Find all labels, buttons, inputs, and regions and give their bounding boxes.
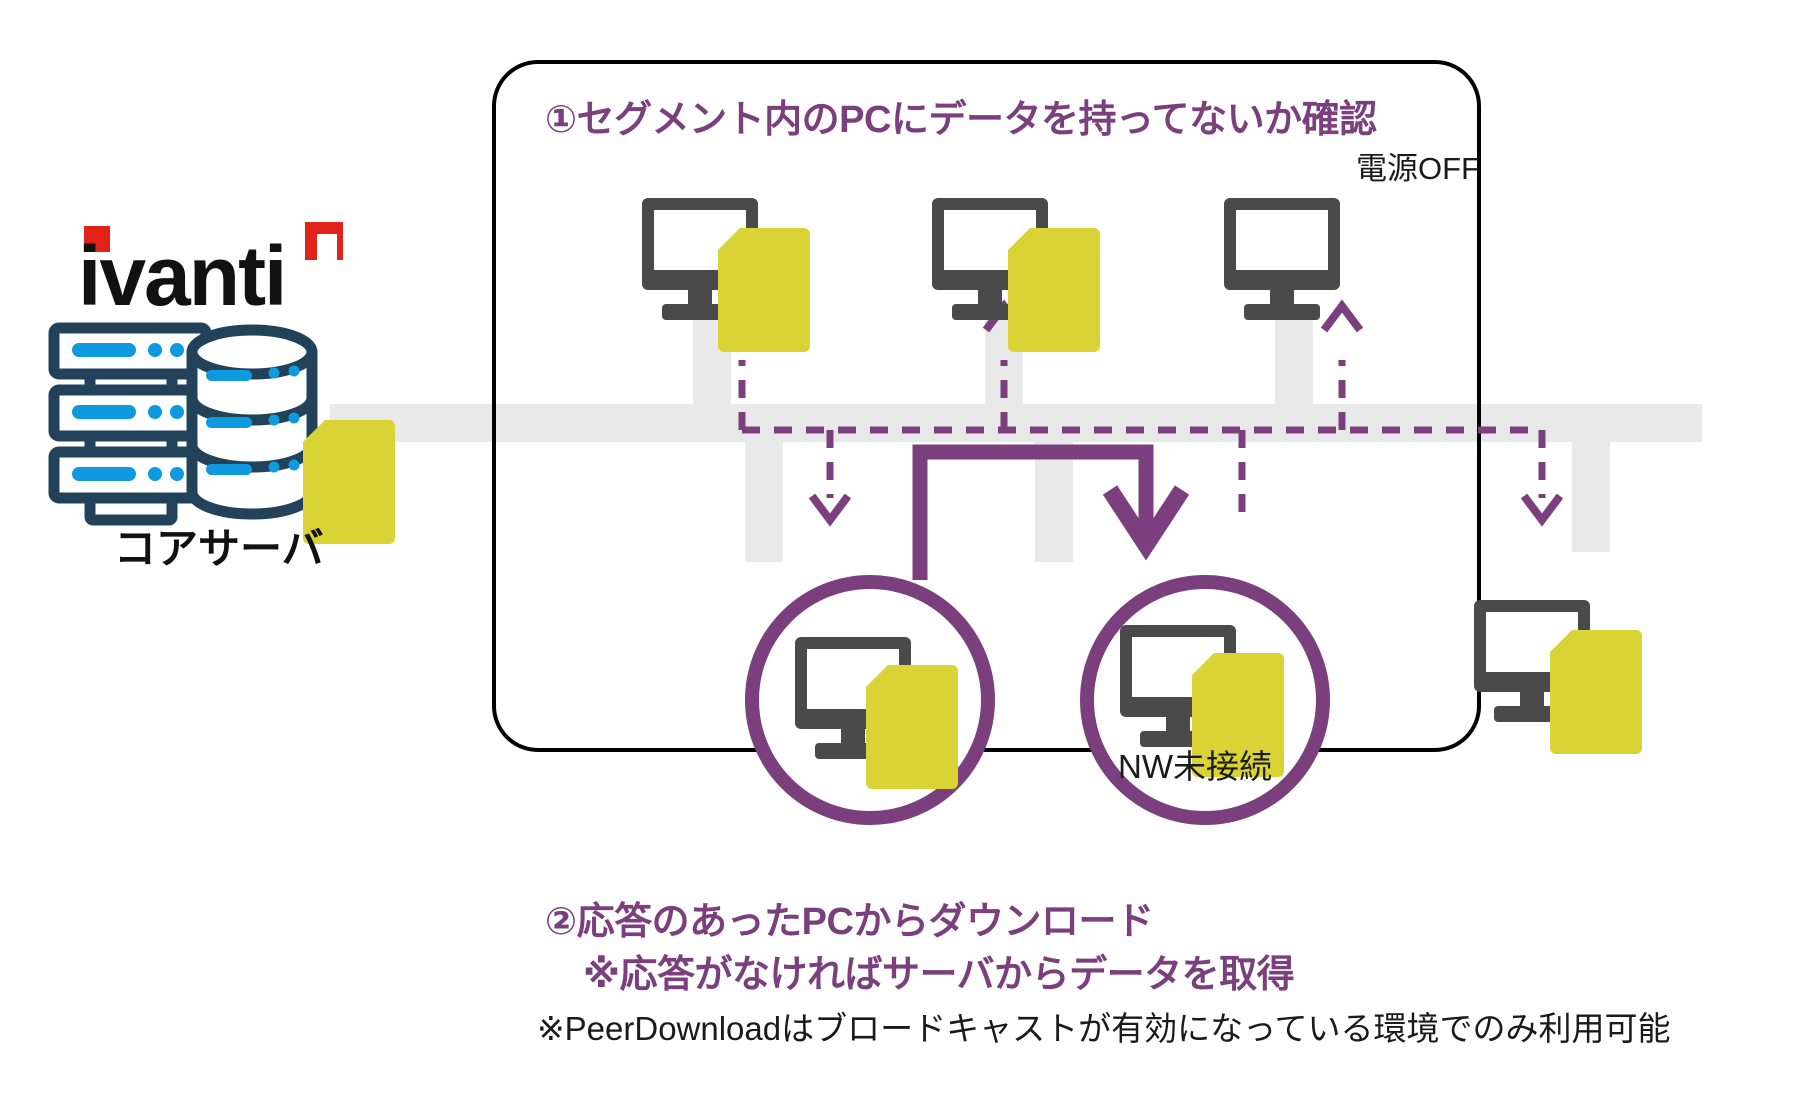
step-2-line-1: ②応答のあったPCからダウンロード — [545, 890, 1153, 945]
nw-disconnected-label: NW未接続 — [1118, 740, 1272, 788]
pc-bottom-3[interactable] — [1474, 600, 1642, 754]
pc-top-2[interactable] — [932, 198, 1100, 352]
footnote-label: ※PeerDownloadはブロードキャストが有効になっている環境でのみ利用可能 — [537, 1002, 1670, 1050]
database-cylinder-icon — [192, 330, 312, 514]
ivanti-logo: ivanti — [78, 222, 343, 323]
pc-top-1[interactable] — [642, 198, 810, 352]
network-bus — [330, 320, 1702, 562]
pc-top-3[interactable] — [1224, 198, 1340, 320]
step-1-label: ①セグメント内のPCにデータを持ってないか確認 — [545, 88, 1377, 143]
core-server-label: コアサーバ — [114, 515, 324, 576]
pc-bottom-1[interactable] — [752, 582, 988, 818]
power-off-label: 電源OFF — [1356, 143, 1480, 188]
svg-text:ivanti: ivanti — [78, 229, 285, 323]
step-2-line-2: ※応答がなければサーバからデータを取得 — [583, 943, 1294, 998]
core-server-group[interactable]: ivanti — [54, 222, 395, 544]
diagram-canvas: ivanti — [0, 0, 1800, 1104]
